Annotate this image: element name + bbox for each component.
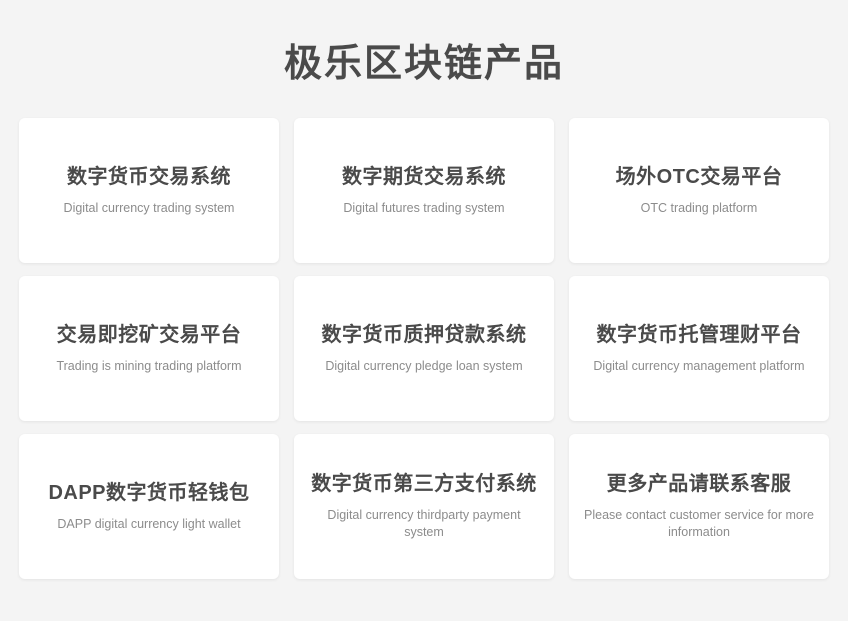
product-card-title: 更多产品请联系客服 (607, 471, 792, 497)
product-card-title: 数字货币交易系统 (67, 164, 231, 190)
product-card-subtitle: Digital currency pledge loan system (325, 358, 522, 375)
product-card-title: 交易即挖矿交易平台 (57, 322, 242, 348)
product-card-title: 数字货币质押贷款系统 (322, 322, 527, 348)
product-list-page: 极乐区块链产品 数字货币交易系统 Digital currency tradin… (0, 0, 848, 621)
page-title: 极乐区块链产品 (19, 0, 829, 88)
product-card-subtitle: Please contact customer service for more… (581, 507, 817, 541)
product-card[interactable]: 数字货币托管理财平台 Digital currency management p… (569, 276, 829, 421)
product-card-title: 数字货币托管理财平台 (597, 322, 802, 348)
product-card-subtitle: Trading is mining trading platform (56, 358, 241, 375)
product-card[interactable]: 数字货币交易系统 Digital currency trading system (19, 118, 279, 263)
product-card[interactable]: 数字货币质押贷款系统 Digital currency pledge loan … (294, 276, 554, 421)
product-card-subtitle: Digital currency thirdparty payment syst… (306, 507, 542, 541)
product-card[interactable]: 更多产品请联系客服 Please contact customer servic… (569, 434, 829, 579)
product-card-grid: 数字货币交易系统 Digital currency trading system… (19, 118, 829, 579)
product-card-title: 数字货币第三方支付系统 (311, 471, 537, 497)
product-card-title: DAPP数字货币轻钱包 (48, 480, 249, 506)
product-card-subtitle: Digital currency trading system (64, 200, 235, 217)
product-card-title: 数字期货交易系统 (342, 164, 506, 190)
product-card-subtitle: OTC trading platform (641, 200, 758, 217)
product-card[interactable]: 交易即挖矿交易平台 Trading is mining trading plat… (19, 276, 279, 421)
product-card-title: 场外OTC交易平台 (616, 164, 783, 190)
product-card-subtitle: Digital currency management platform (593, 358, 804, 375)
product-card[interactable]: DAPP数字货币轻钱包 DAPP digital currency light … (19, 434, 279, 579)
product-card[interactable]: 数字期货交易系统 Digital futures trading system (294, 118, 554, 263)
product-card[interactable]: 场外OTC交易平台 OTC trading platform (569, 118, 829, 263)
product-card[interactable]: 数字货币第三方支付系统 Digital currency thirdparty … (294, 434, 554, 579)
product-card-subtitle: DAPP digital currency light wallet (57, 516, 240, 533)
product-card-subtitle: Digital futures trading system (343, 200, 504, 217)
